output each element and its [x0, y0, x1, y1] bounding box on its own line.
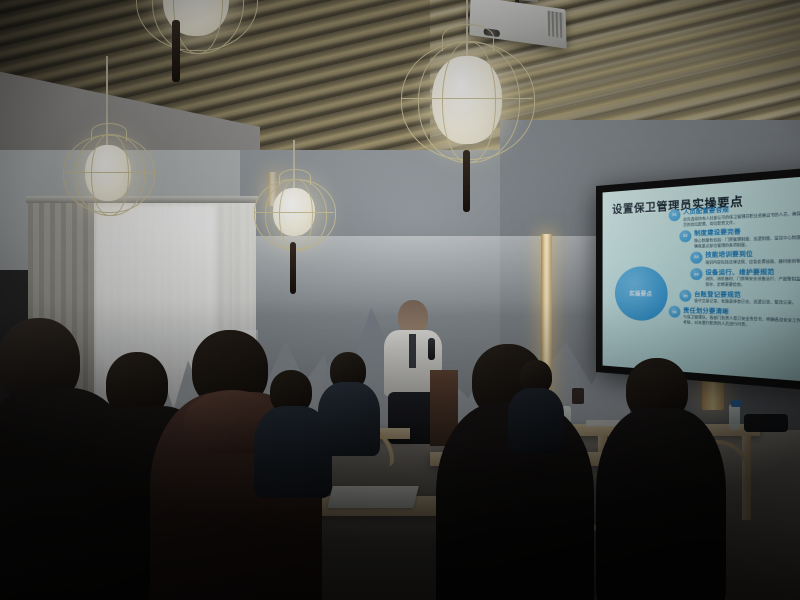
pendant-lantern [72, 140, 144, 206]
lantern-tassel [172, 20, 180, 82]
photo-scene: 设置保卫管理员实操要点 实操要点 01 人员配置要合规 应先选用持有人社部认可的… [0, 0, 800, 600]
presenter-tie [409, 334, 416, 368]
bottle-cap [731, 400, 742, 407]
presenter-head [398, 300, 428, 334]
slide-bullet-list: 01 人员配置要合规 应先选用持有人社部认可的保卫管理员职业资格证书的人员，确保… [669, 200, 800, 334]
bullet-heading: 技能培训要到位 [705, 248, 800, 259]
slide-bullet-item: 03 技能培训要到位 培训内容包括法律法规、应急处置技能、器材使用等。 [690, 248, 800, 266]
bullet-number: 02 [679, 230, 691, 242]
attendee [508, 360, 564, 444]
projector-vent [548, 11, 565, 39]
attendee-vest [596, 408, 726, 600]
bag [744, 414, 788, 432]
pendant-lantern [414, 50, 520, 150]
slide-bullet-item: 06 责任划分要清晰 与保卫管理队、各部门负责人签订安全责任书，明确各自安全工作… [669, 306, 800, 332]
bullet-body: 培训内容包括法律法规、应急处置技能、器材使用等。 [705, 258, 800, 265]
pendant-lantern [148, 0, 244, 42]
slide-surface: 设置保卫管理员实操要点 实操要点 01 人员配置要合规 应先选用持有人社部认可的… [603, 175, 800, 383]
slide-bullet-item: 02 制度建设要完善 核心制度有包括：门禁管理制度、巡逻制度、监控中心制度等，还… [679, 224, 800, 250]
bullet-number: 01 [669, 208, 681, 220]
lantern-cage [254, 179, 335, 248]
bullet-number: 06 [669, 306, 681, 318]
bullet-number: 04 [690, 268, 702, 280]
attendee-coat [318, 382, 380, 456]
slide-bullet-item: 04 设备运行、维护要规范 消防、消防器材、门禁等安全设备运行、产报警制监控数据… [690, 266, 800, 289]
slide-hub-label: 实操要点 [629, 289, 652, 298]
bullet-heading: 设备运行、维护要规范 [705, 266, 800, 276]
lantern-tassel [463, 150, 470, 212]
slide-bullet-item: 05 台账登记要规范 值守交接记录、有隐患排查日志、巡逻记录、整改记录。 [679, 290, 800, 308]
bullet-body: 与保卫管理队、各部门负责人签订安全责任书，明确各自安全工作职人年度考核，对未履行… [683, 315, 800, 331]
lantern-cage [63, 135, 154, 214]
microphone [428, 338, 435, 360]
attendee [318, 352, 380, 448]
open-booklet [327, 486, 418, 508]
slide-hub-circle: 实操要点 [615, 266, 668, 321]
water-bottle [729, 404, 740, 430]
table-leg [742, 436, 751, 520]
bullet-number: 03 [690, 251, 702, 263]
attendee-coat [508, 388, 564, 454]
lantern-cage [401, 42, 534, 160]
attendee [604, 358, 716, 600]
pendant-lantern [262, 184, 326, 242]
lantern-tassel [290, 242, 296, 294]
bullet-body: 消防、消防器材、门禁等安全设备运行、产报警制监控数据的保存，定期更要检查。 [705, 277, 800, 289]
bullet-number: 05 [679, 290, 691, 302]
